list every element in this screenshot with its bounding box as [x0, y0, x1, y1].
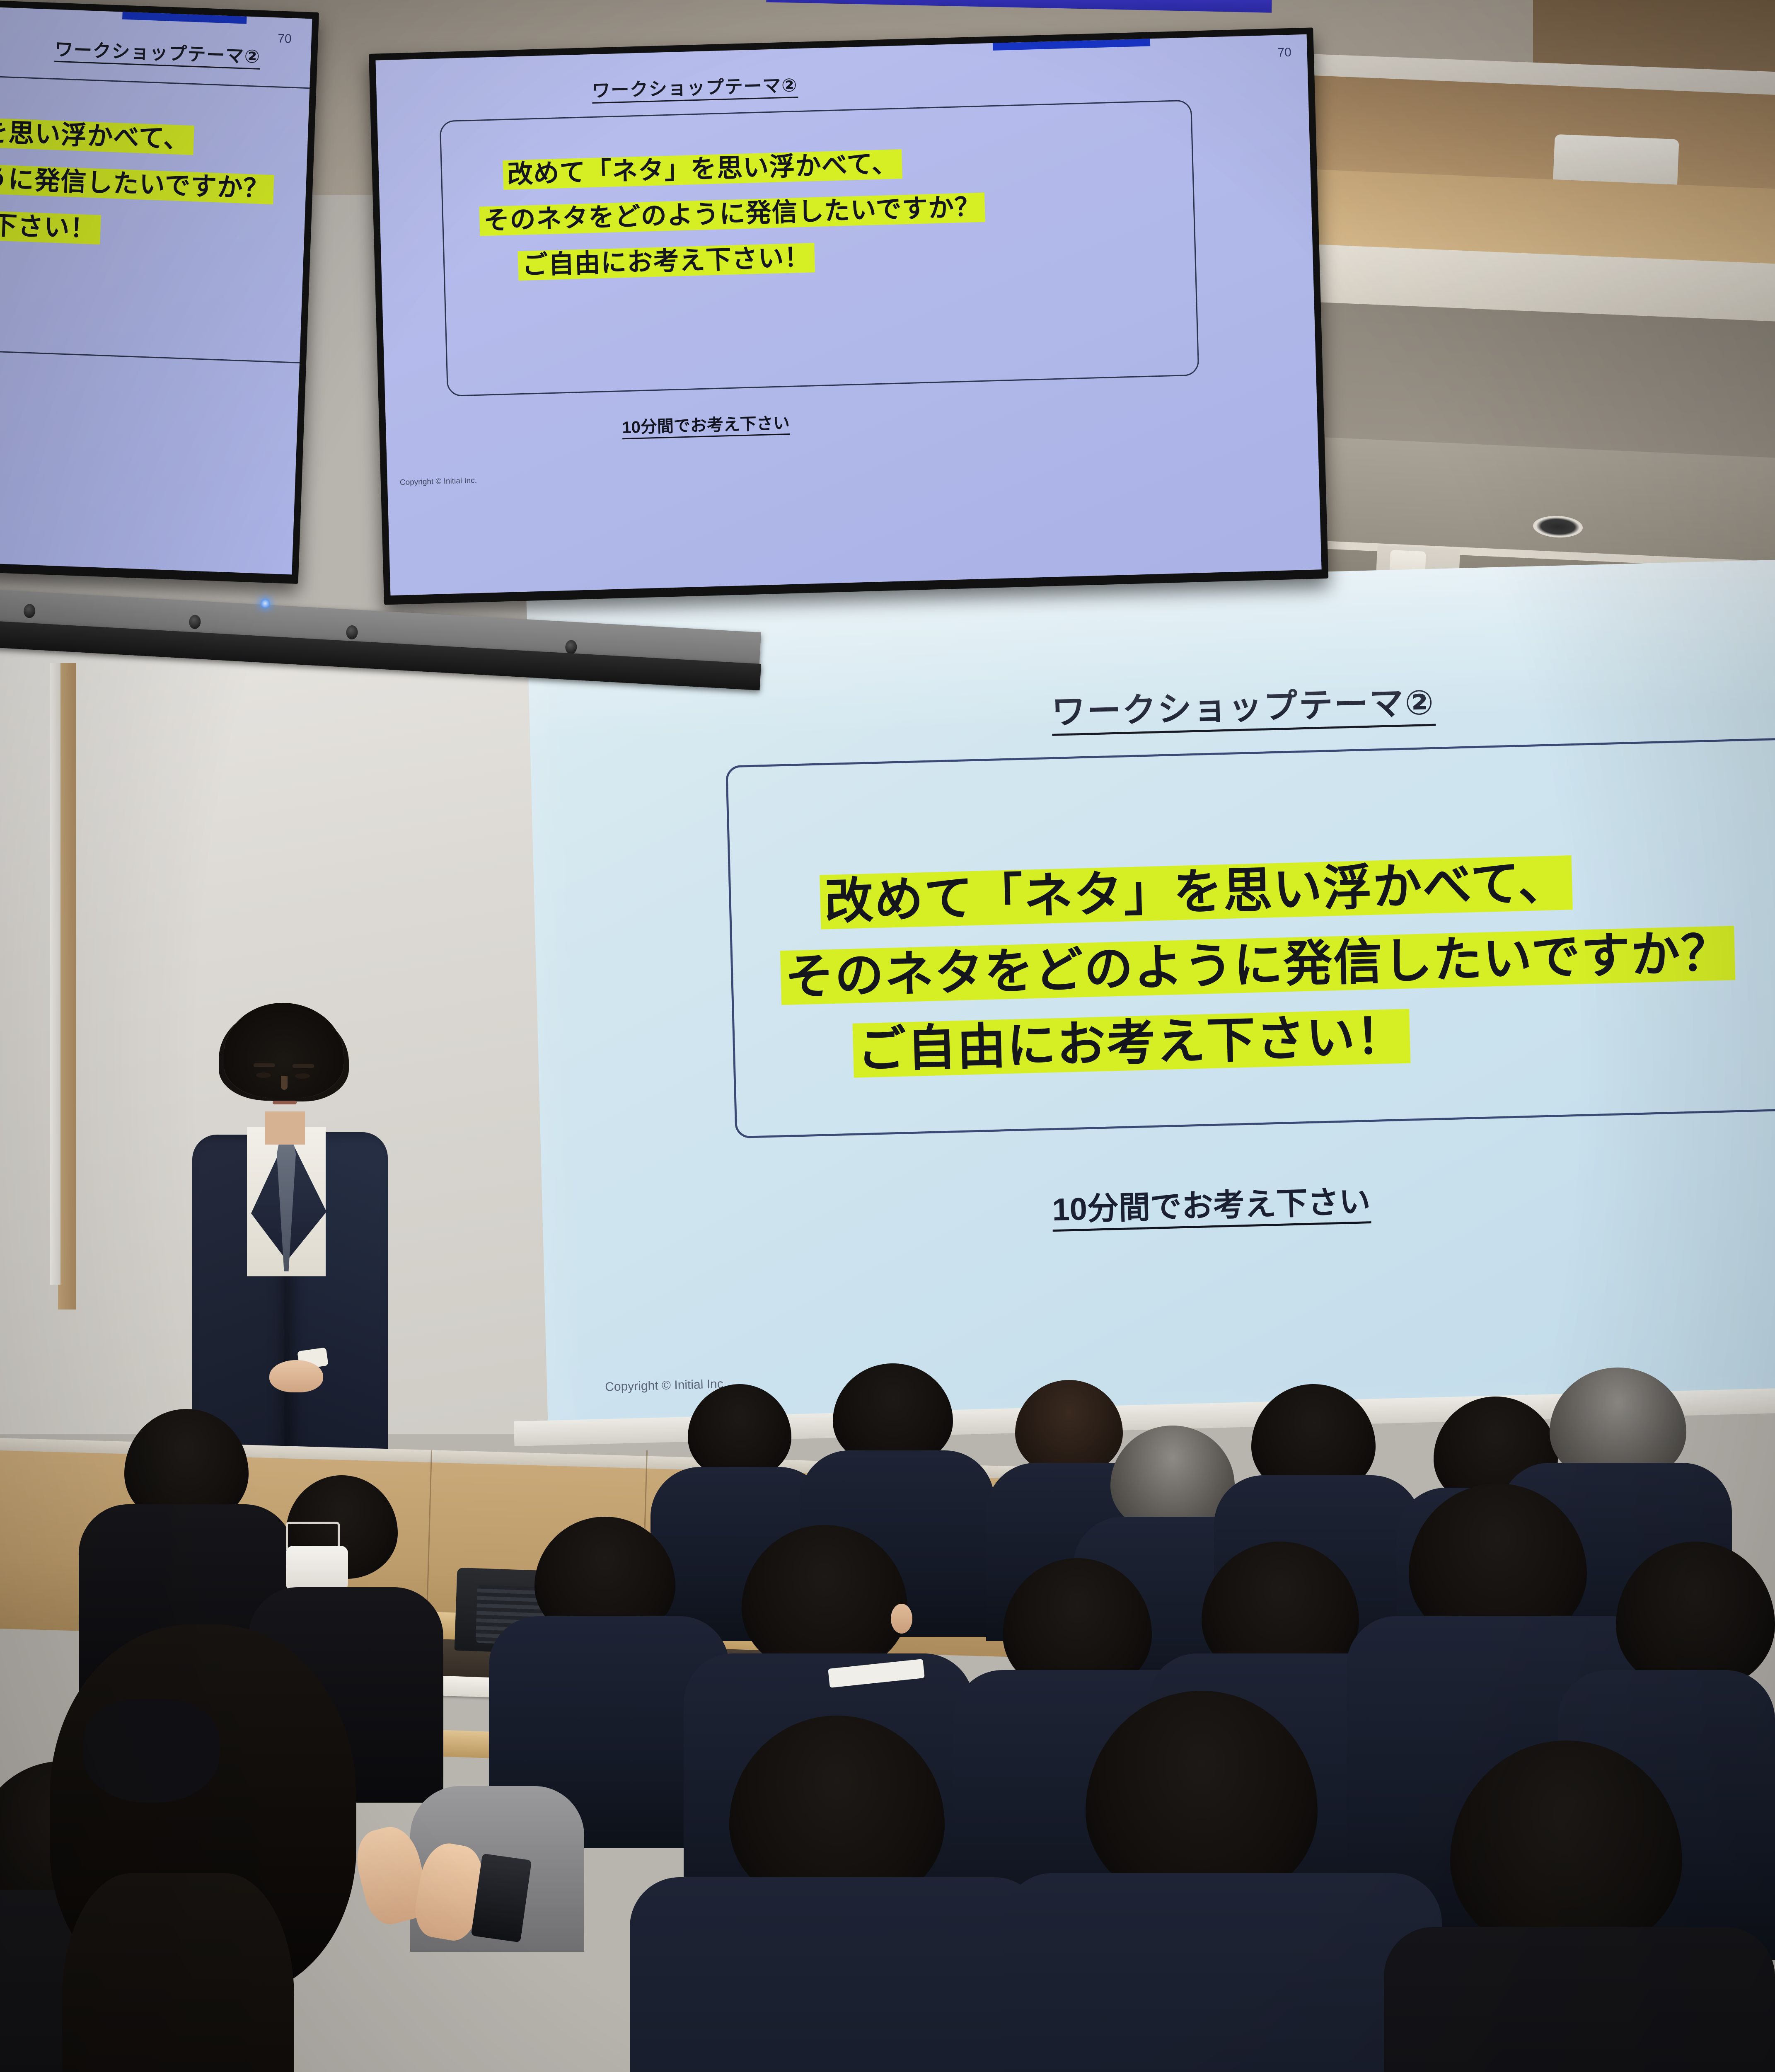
lecture-hall-photo: ワークショップテーマ② 改めて「ネタ」を思い浮かべて、 そのネタをどのように発信…: [0, 0, 1775, 2072]
presenter-hands: [269, 1360, 323, 1392]
foreground-woman-ponytail: [62, 1873, 294, 2072]
presenter-brow-right: [293, 1064, 314, 1068]
presenter-brow-left: [254, 1063, 275, 1067]
slide-copyright: Copyright © Initial Inc.: [605, 1377, 727, 1394]
slide-box-right: [440, 100, 1199, 397]
wall-corner-edge: [50, 663, 60, 1285]
slide-page-number-left: 70: [278, 31, 292, 46]
hair-bow: [83, 1699, 220, 1803]
audience-torso: [630, 1877, 1044, 2072]
face-mask: [286, 1546, 348, 1591]
wall-wood-strip: [58, 663, 76, 1310]
status-led-icon: [260, 599, 270, 608]
presenter-eye-right: [295, 1073, 310, 1079]
slide-footer-note-right: 10分間でお考え下さい: [622, 409, 790, 439]
projected-slide: ワークショップテーマ② 改めて「ネタ」を思い浮かべて、 そのネタをどのように発信…: [526, 559, 1775, 1442]
presenter: [166, 1003, 398, 1467]
audience-ear: [891, 1604, 912, 1634]
slide-title-left: ワークショップテーマ②: [54, 34, 261, 70]
left-monitor-slide: ワークショップテーマ② 改めて「ネタ」を思い浮かべて、 そのネタをどのように発信…: [0, 4, 312, 575]
slide-footer-note: 10分間でお考え下さい: [1052, 1176, 1371, 1232]
slide-page-number-right: 70: [1277, 46, 1291, 60]
projection-screen: ワークショップテーマ② 改めて「ネタ」を思い浮かべて、 そのネタをどのように発信…: [526, 559, 1775, 1442]
audience-torso: [1003, 1873, 1442, 2072]
slide-title: ワークショップテーマ②: [1051, 675, 1435, 736]
left-wall-monitor: ワークショップテーマ② 改めて「ネタ」を思い浮かべて、 そのネタをどのように発信…: [0, 0, 319, 584]
audience-torso: [1384, 1927, 1775, 2072]
slide-copyright-right: Copyright © Initial Inc.: [400, 476, 477, 487]
rail-bolt-icon: [565, 640, 577, 655]
presenter-nose: [281, 1076, 288, 1090]
rail-bolt-icon: [23, 604, 36, 619]
rail-bolt-icon: [346, 625, 358, 640]
right-monitor-slide: ワークショップテーマ② 改めて「ネタ」を思い浮かべて、 そのネタをどのように発信…: [375, 34, 1321, 595]
right-wall-monitor: ワークショップテーマ② 改めて「ネタ」を思い浮かべて、 そのネタをどのように発信…: [369, 27, 1328, 605]
rail-bolt-icon: [189, 615, 201, 629]
presenter-eye-left: [256, 1072, 271, 1078]
presenter-mouth: [273, 1101, 297, 1104]
presenter-neck: [265, 1111, 305, 1145]
slide-title-right: ワークショップテーマ②: [592, 70, 798, 104]
